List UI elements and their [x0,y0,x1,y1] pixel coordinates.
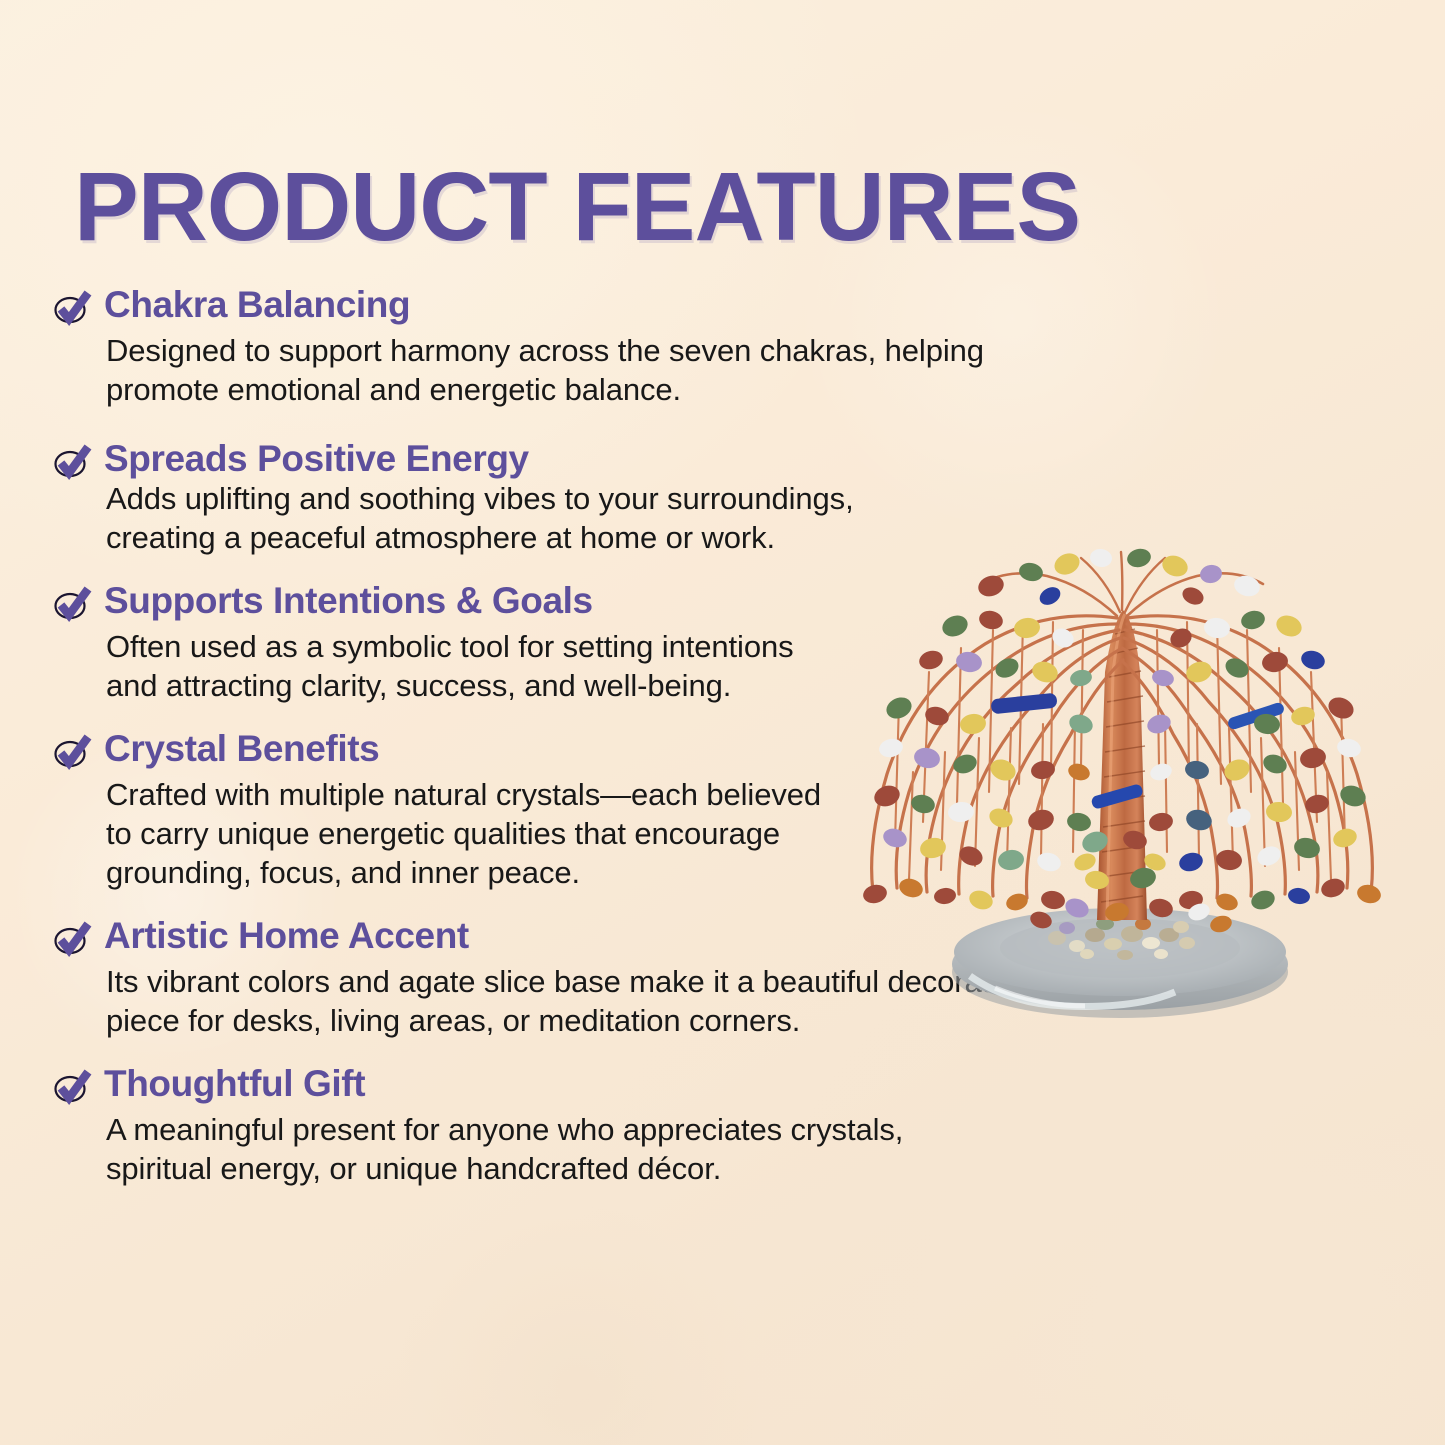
check-circle-icon [52,1066,92,1106]
feature-title: Crystal Benefits [104,727,379,771]
feature-title: Thoughtful Gift [104,1062,365,1106]
check-circle-icon [52,583,92,623]
feature-title: Supports Intentions & Goals [104,579,593,623]
check-circle-icon [52,918,92,958]
feature-title: Spreads Positive Energy [104,437,529,481]
page-title: PRODUCT FEATURES [74,158,1080,255]
feature-title: Artistic Home Accent [104,914,469,958]
crystal-tree-product-image [795,372,1445,1052]
feature-heading-row: Thoughtful Gift [52,1062,1062,1106]
check-circle-icon [52,731,92,771]
list-item: Thoughtful Gift A meaningful present for… [52,1062,1062,1188]
agate-slice-base [952,908,1288,1018]
feature-title: Chakra Balancing [104,283,410,327]
crystal-tree-illustration [795,372,1445,1052]
feature-heading-row: Chakra Balancing [52,283,1062,327]
check-circle-icon [52,441,92,481]
check-circle-icon [52,287,92,327]
feature-description: A meaningful present for anyone who appr… [106,1110,1062,1188]
product-features-infographic: PRODUCT FEATURES Chakra Balancing Design… [0,0,1445,1445]
